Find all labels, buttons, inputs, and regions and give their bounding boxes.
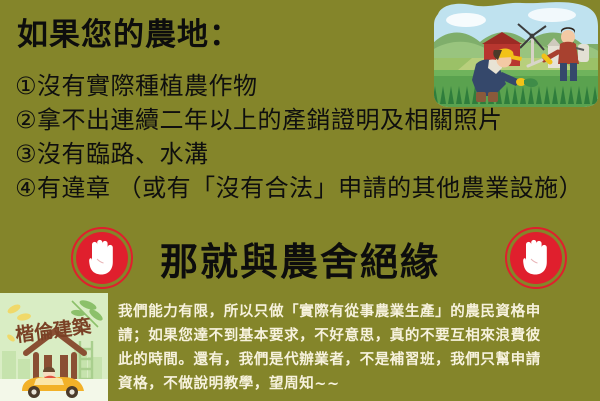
list-item: ②拿不出連續二年以上的產銷證明及相關照片	[15, 104, 595, 138]
conclusion-banner: 那就與農舍絕緣	[0, 222, 600, 294]
note-line: 我們能力有限，所以只做「實際有從事農業生產」的農民資格申	[118, 300, 594, 324]
poster-canvas: 如果您的農地： ①沒有實際種植農作物 ②拿不出連續二年以上的產銷證明及相關照片 …	[0, 0, 600, 401]
note-line: 此的時間。還有，我們是代辦業者，不是補習班，我們只幫申請	[118, 348, 594, 372]
list-item: ④有違章 （或有「沒有合法」申請的其他農業設施）	[15, 172, 595, 206]
brand-logo: 楷倫建築	[0, 293, 108, 401]
list-item: ①沒有實際種植農作物	[15, 70, 595, 104]
condition-list: ①沒有實際種植農作物 ②拿不出連續二年以上的產銷證明及相關照片 ③沒有臨路、水溝…	[15, 70, 595, 206]
note-line: 請；如果您達不到基本要求，不好意思，真的不要互相來浪費彼	[118, 324, 594, 348]
list-item: ③沒有臨路、水溝	[15, 138, 595, 172]
stop-hand-icon	[504, 226, 568, 290]
note-line: 資格，不做說明教學，望周知~~	[118, 372, 594, 396]
page-title: 如果您的農地：	[17, 15, 241, 55]
footer-note: 我們能力有限，所以只做「實際有從事農業生產」的農民資格申 請；如果您達不到基本要…	[118, 300, 594, 396]
